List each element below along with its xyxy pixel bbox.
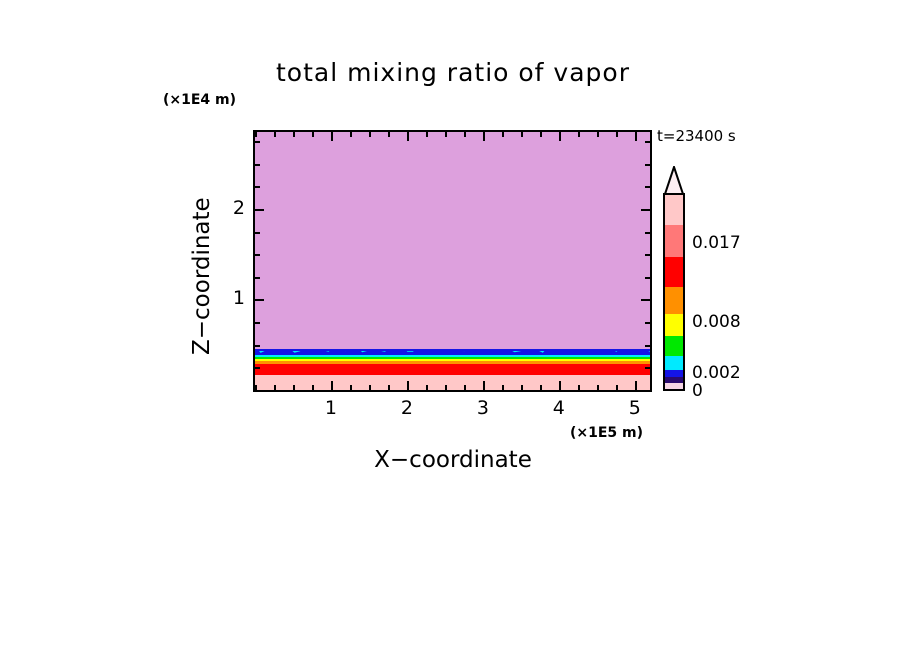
colorbar-band-light-pink [665,193,683,225]
x-tick-minor-top [369,132,371,137]
x-tick-minor-top [464,132,466,137]
colorbar-tick-label: 0.008 [692,312,741,332]
y-tick-minor [255,322,260,324]
x-tick-major-top [483,132,485,141]
y-tick-major-right [641,209,650,211]
y-tick-minor [255,232,260,234]
x-tick-major [483,381,485,390]
colorbar-band-dark-navy [665,376,683,383]
y-tick-minor-right [645,367,650,369]
x-tick-minor-top [388,132,390,137]
colorbar-band-blue [665,369,683,377]
y-tick-minor [255,141,260,143]
x-tick-minor-top [312,132,314,137]
x-tick-major-top [331,132,333,141]
x-tick-minor [597,385,599,390]
x-tick-minor-top [445,132,447,137]
y-tick-minor-right [645,141,650,143]
x-tick-minor [312,385,314,390]
y-tick-minor [255,390,260,392]
x-tick-label: 4 [539,397,579,419]
y-tick-major-right [641,299,650,301]
y-tick-minor-right [645,345,650,347]
x-tick-minor [426,385,428,390]
y-axis-unit-label: (×1E4 m) [163,92,236,108]
x-tick-minor [293,385,295,390]
colorbar-band-red [665,256,683,287]
x-tick-minor [350,385,352,390]
y-tick-minor [255,367,260,369]
x-tick-label: 2 [387,397,427,419]
x-tick-minor [388,385,390,390]
figure-canvas: total mixing ratio of vapor (×1E4 m) t=2… [0,0,904,654]
x-tick-minor [521,385,523,390]
y-tick-minor-right [645,232,650,234]
x-tick-label: 3 [463,397,503,419]
x-tick-minor [274,385,276,390]
x-tick-minor-top [350,132,352,137]
x-tick-major [407,381,409,390]
x-tick-minor-top [597,132,599,137]
y-tick-minor-right [645,164,650,166]
x-tick-minor [502,385,504,390]
x-tick-minor-top [616,132,618,137]
x-tick-major [635,381,637,390]
colorbar-band-pale-pink [665,382,683,389]
colorbar-band-cyan [665,355,683,370]
x-tick-major [559,381,561,390]
x-tick-minor [616,385,618,390]
field-layer-plum-top [255,132,650,349]
colorbar-band-yellow [665,313,683,336]
x-tick-minor-top [255,132,257,137]
x-tick-minor-top [540,132,542,137]
x-tick-minor [578,385,580,390]
x-tick-label: 5 [615,397,655,419]
colorbar-arrow-cap [663,166,685,195]
x-tick-minor-top [521,132,523,137]
x-tick-minor [464,385,466,390]
page-title: total mixing ratio of vapor [253,58,653,87]
y-tick-minor-right [645,390,650,392]
plot-area [253,130,652,392]
y-tick-minor [255,345,260,347]
y-tick-major [255,299,264,301]
colorbar-band-green [665,335,683,356]
time-annotation: t=23400 s [657,127,736,145]
y-tick-minor [255,186,260,188]
x-tick-label: 1 [311,397,351,419]
y-axis-title: Z−coordinate [189,197,215,355]
colorbar [663,193,685,391]
y-tick-minor [255,254,260,256]
x-tick-minor-top [293,132,295,137]
x-tick-minor [540,385,542,390]
x-tick-minor-top [426,132,428,137]
y-tick-major [255,209,264,211]
x-axis-unit-label: (×1E5 m) [570,425,643,441]
colorbar-tick-label: 0.002 [692,363,741,383]
x-tick-major-top [407,132,409,141]
x-tick-minor [369,385,371,390]
y-tick-minor-right [645,254,650,256]
colorbar-band-salmon [665,224,683,257]
x-axis-title: X−coordinate [253,447,653,473]
x-tick-minor-top [502,132,504,137]
x-tick-major-top [559,132,561,141]
colorbar-tick-label: 0 [692,381,703,401]
x-tick-minor-top [274,132,276,137]
x-tick-minor [445,385,447,390]
y-tick-minor-right [645,322,650,324]
x-tick-major-top [635,132,637,141]
colorbar-band-orange [665,286,683,314]
y-tick-minor [255,277,260,279]
y-tick-minor-right [645,277,650,279]
y-tick-minor [255,164,260,166]
x-tick-minor-top [578,132,580,137]
colorbar-tick-label: 0.017 [692,233,741,253]
x-tick-major [331,381,333,390]
y-tick-minor-right [645,186,650,188]
